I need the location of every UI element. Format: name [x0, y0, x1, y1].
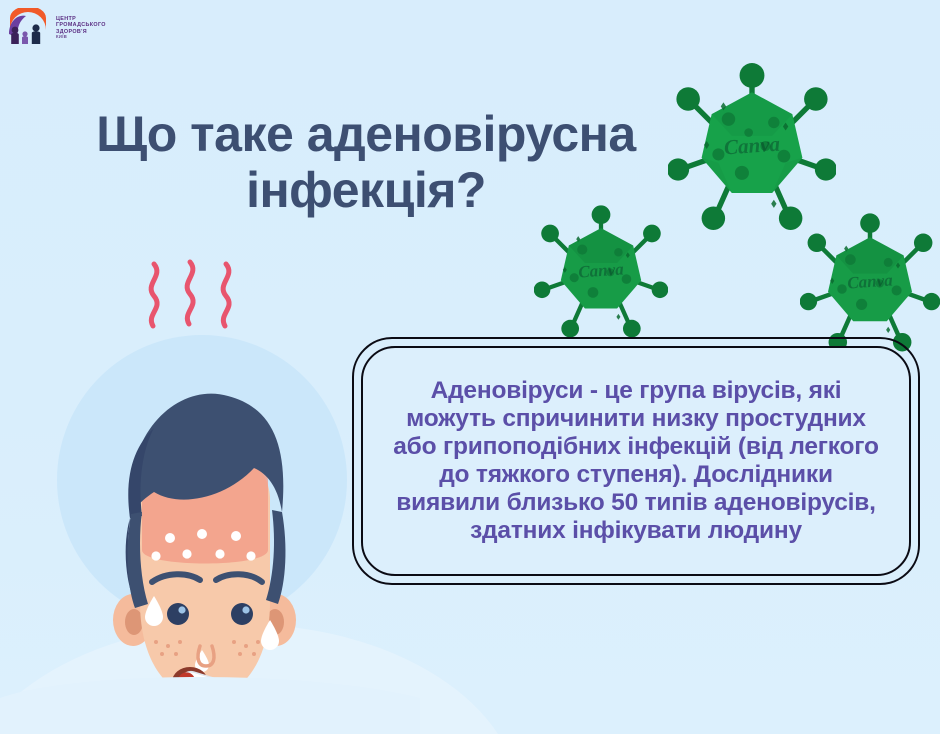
- logo-wordmark: ЦЕНТР ГРОМАДСЬКОГО ЗДОРОВ'Я КИЇВ: [56, 16, 106, 40]
- info-card: Аденовіруси - це група вірусів, які можу…: [352, 337, 920, 585]
- logo-line-4: КИЇВ: [56, 35, 106, 40]
- eye-right: [231, 603, 253, 625]
- adenovirus-illustration-small: Canva: [800, 212, 940, 352]
- eye-left: [167, 603, 189, 625]
- info-card-body-text: Аденовіруси - це група вірусів, які можу…: [385, 377, 887, 545]
- poster-canvas: ЦЕНТР ГРОМАДСЬКОГО ЗДОРОВ'Я КИЇВ Що таке…: [0, 0, 940, 734]
- foreground-floor: [0, 654, 420, 734]
- adenovirus-illustration-large: Canva: [668, 62, 836, 230]
- info-card-inner-border: Аденовіруси - це група вірусів, які можу…: [361, 346, 911, 576]
- page-title: Що таке аденовірусна інфекція?: [36, 106, 696, 218]
- sick-boy-illustration: [30, 250, 390, 720]
- adenovirus-illustration-medium: Canva: [534, 204, 668, 338]
- logo-mark-icon: [6, 8, 50, 48]
- organization-logo: ЦЕНТР ГРОМАДСЬКОГО ЗДОРОВ'Я КИЇВ: [6, 6, 192, 50]
- heat-wave-icon: [151, 262, 229, 326]
